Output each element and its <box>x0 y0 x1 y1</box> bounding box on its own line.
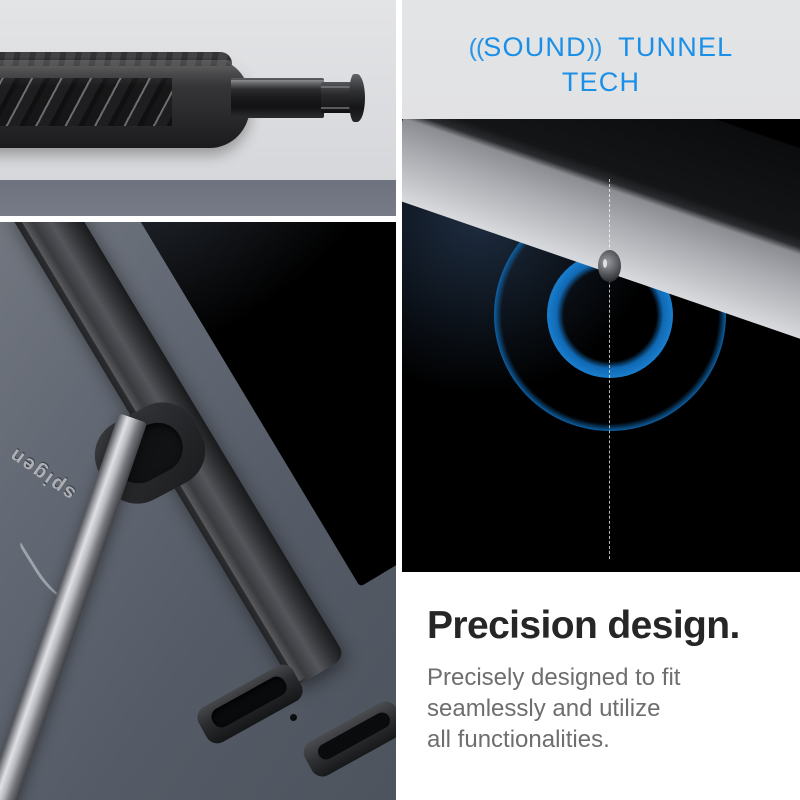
stylus-end-cap <box>349 74 365 122</box>
heading-word-tech: TECH <box>402 65 800 99</box>
speaker-port <box>598 250 621 282</box>
center-axis-dashed-line <box>609 179 610 559</box>
heading-word-tunnel: TUNNEL <box>618 32 733 62</box>
panel-case-corner-stylus-macro: spigen <box>0 222 396 800</box>
panel-precision-design-copy: Precision design. Precisely designed to … <box>402 572 800 800</box>
panel-divider-vertical <box>396 0 402 800</box>
soundwave-bracket-right-icon: )) <box>587 34 602 62</box>
case-highlight-sheen <box>0 60 250 86</box>
body-copy: Precisely designed to fit seamlessly and… <box>427 662 680 755</box>
spigen-logo-emboss: spigen <box>4 442 80 505</box>
panel-divider-horizontal <box>0 216 396 222</box>
headline: Precision design. <box>427 604 740 648</box>
backdrop-desk-surface <box>0 180 396 216</box>
stylus-shaft-gloss <box>231 80 324 89</box>
marketing-collage: spigen ((SOUND)) TUNNEL TECH <box>0 0 800 800</box>
stylus-neck-ring-bottom <box>321 107 352 109</box>
microphone-hole <box>289 713 299 723</box>
panel-case-edge-stylus-closeup <box>0 0 396 216</box>
heading-word-sound: SOUND <box>483 32 587 62</box>
soundwave-bracket-left-icon: (( <box>469 34 484 62</box>
stylus-neck-ring-top <box>321 86 352 88</box>
sound-tunnel-heading: ((SOUND)) TUNNEL TECH <box>402 30 800 99</box>
sound-diagram-dark-stage <box>402 119 800 572</box>
speaker-port-highlight <box>603 259 607 268</box>
panel-sound-tunnel-diagram: ((SOUND)) TUNNEL TECH <box>402 0 800 572</box>
